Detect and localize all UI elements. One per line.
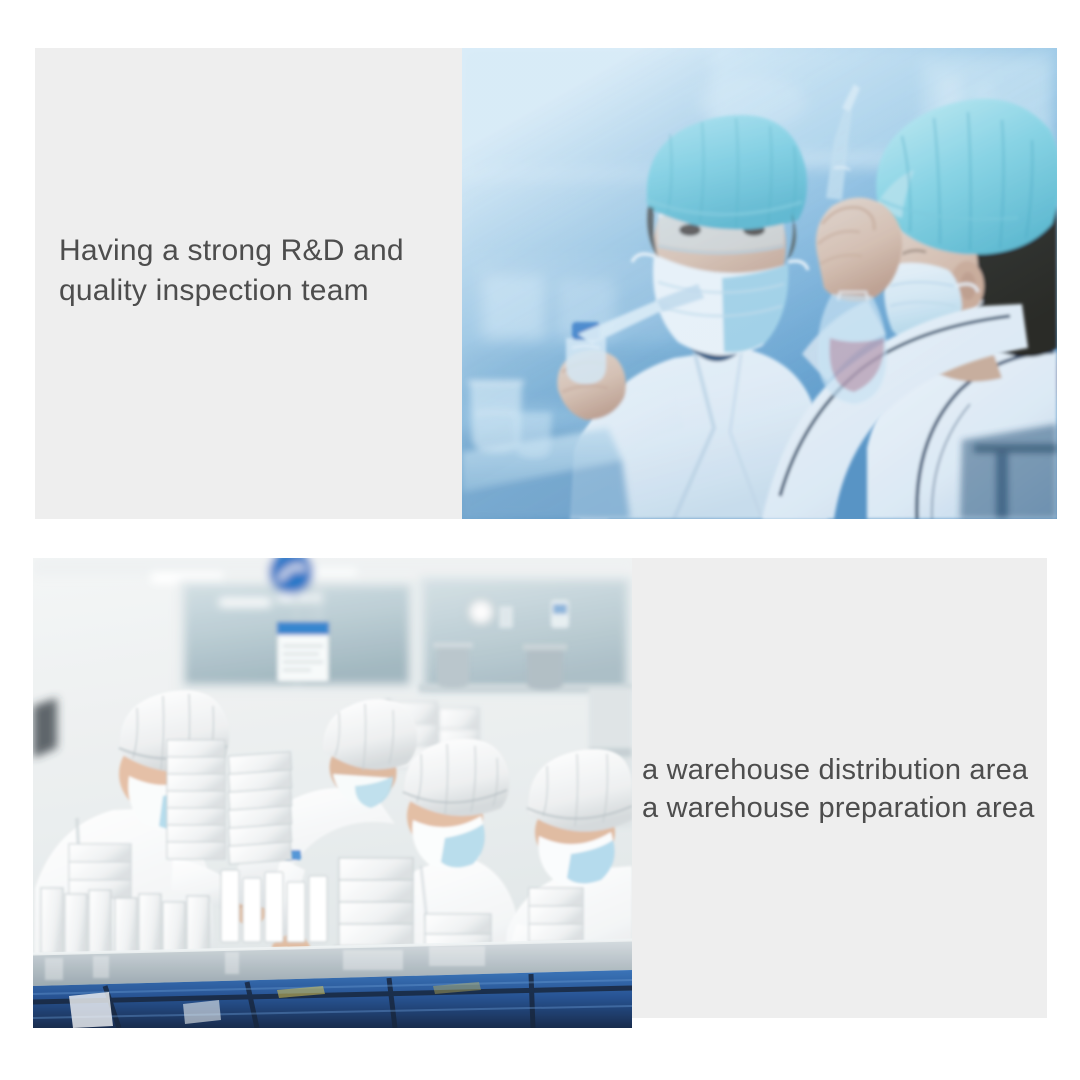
bottom-section: a warehouse distribution area a warehous… [33, 558, 1047, 1028]
lab-photo-illustration [462, 48, 1057, 519]
page-root: Having a strong R&D and quality inspecti… [0, 0, 1080, 1080]
bottom-caption-text: a warehouse distribution area a warehous… [642, 751, 1047, 827]
top-section: Having a strong R&D and quality inspecti… [35, 48, 1057, 519]
lab-quality-inspection-photo [462, 48, 1057, 519]
warehouse-photo-illustration [33, 558, 632, 1028]
top-caption-text: Having a strong R&D and quality inspecti… [59, 231, 449, 311]
warehouse-packing-photo [33, 558, 632, 1028]
